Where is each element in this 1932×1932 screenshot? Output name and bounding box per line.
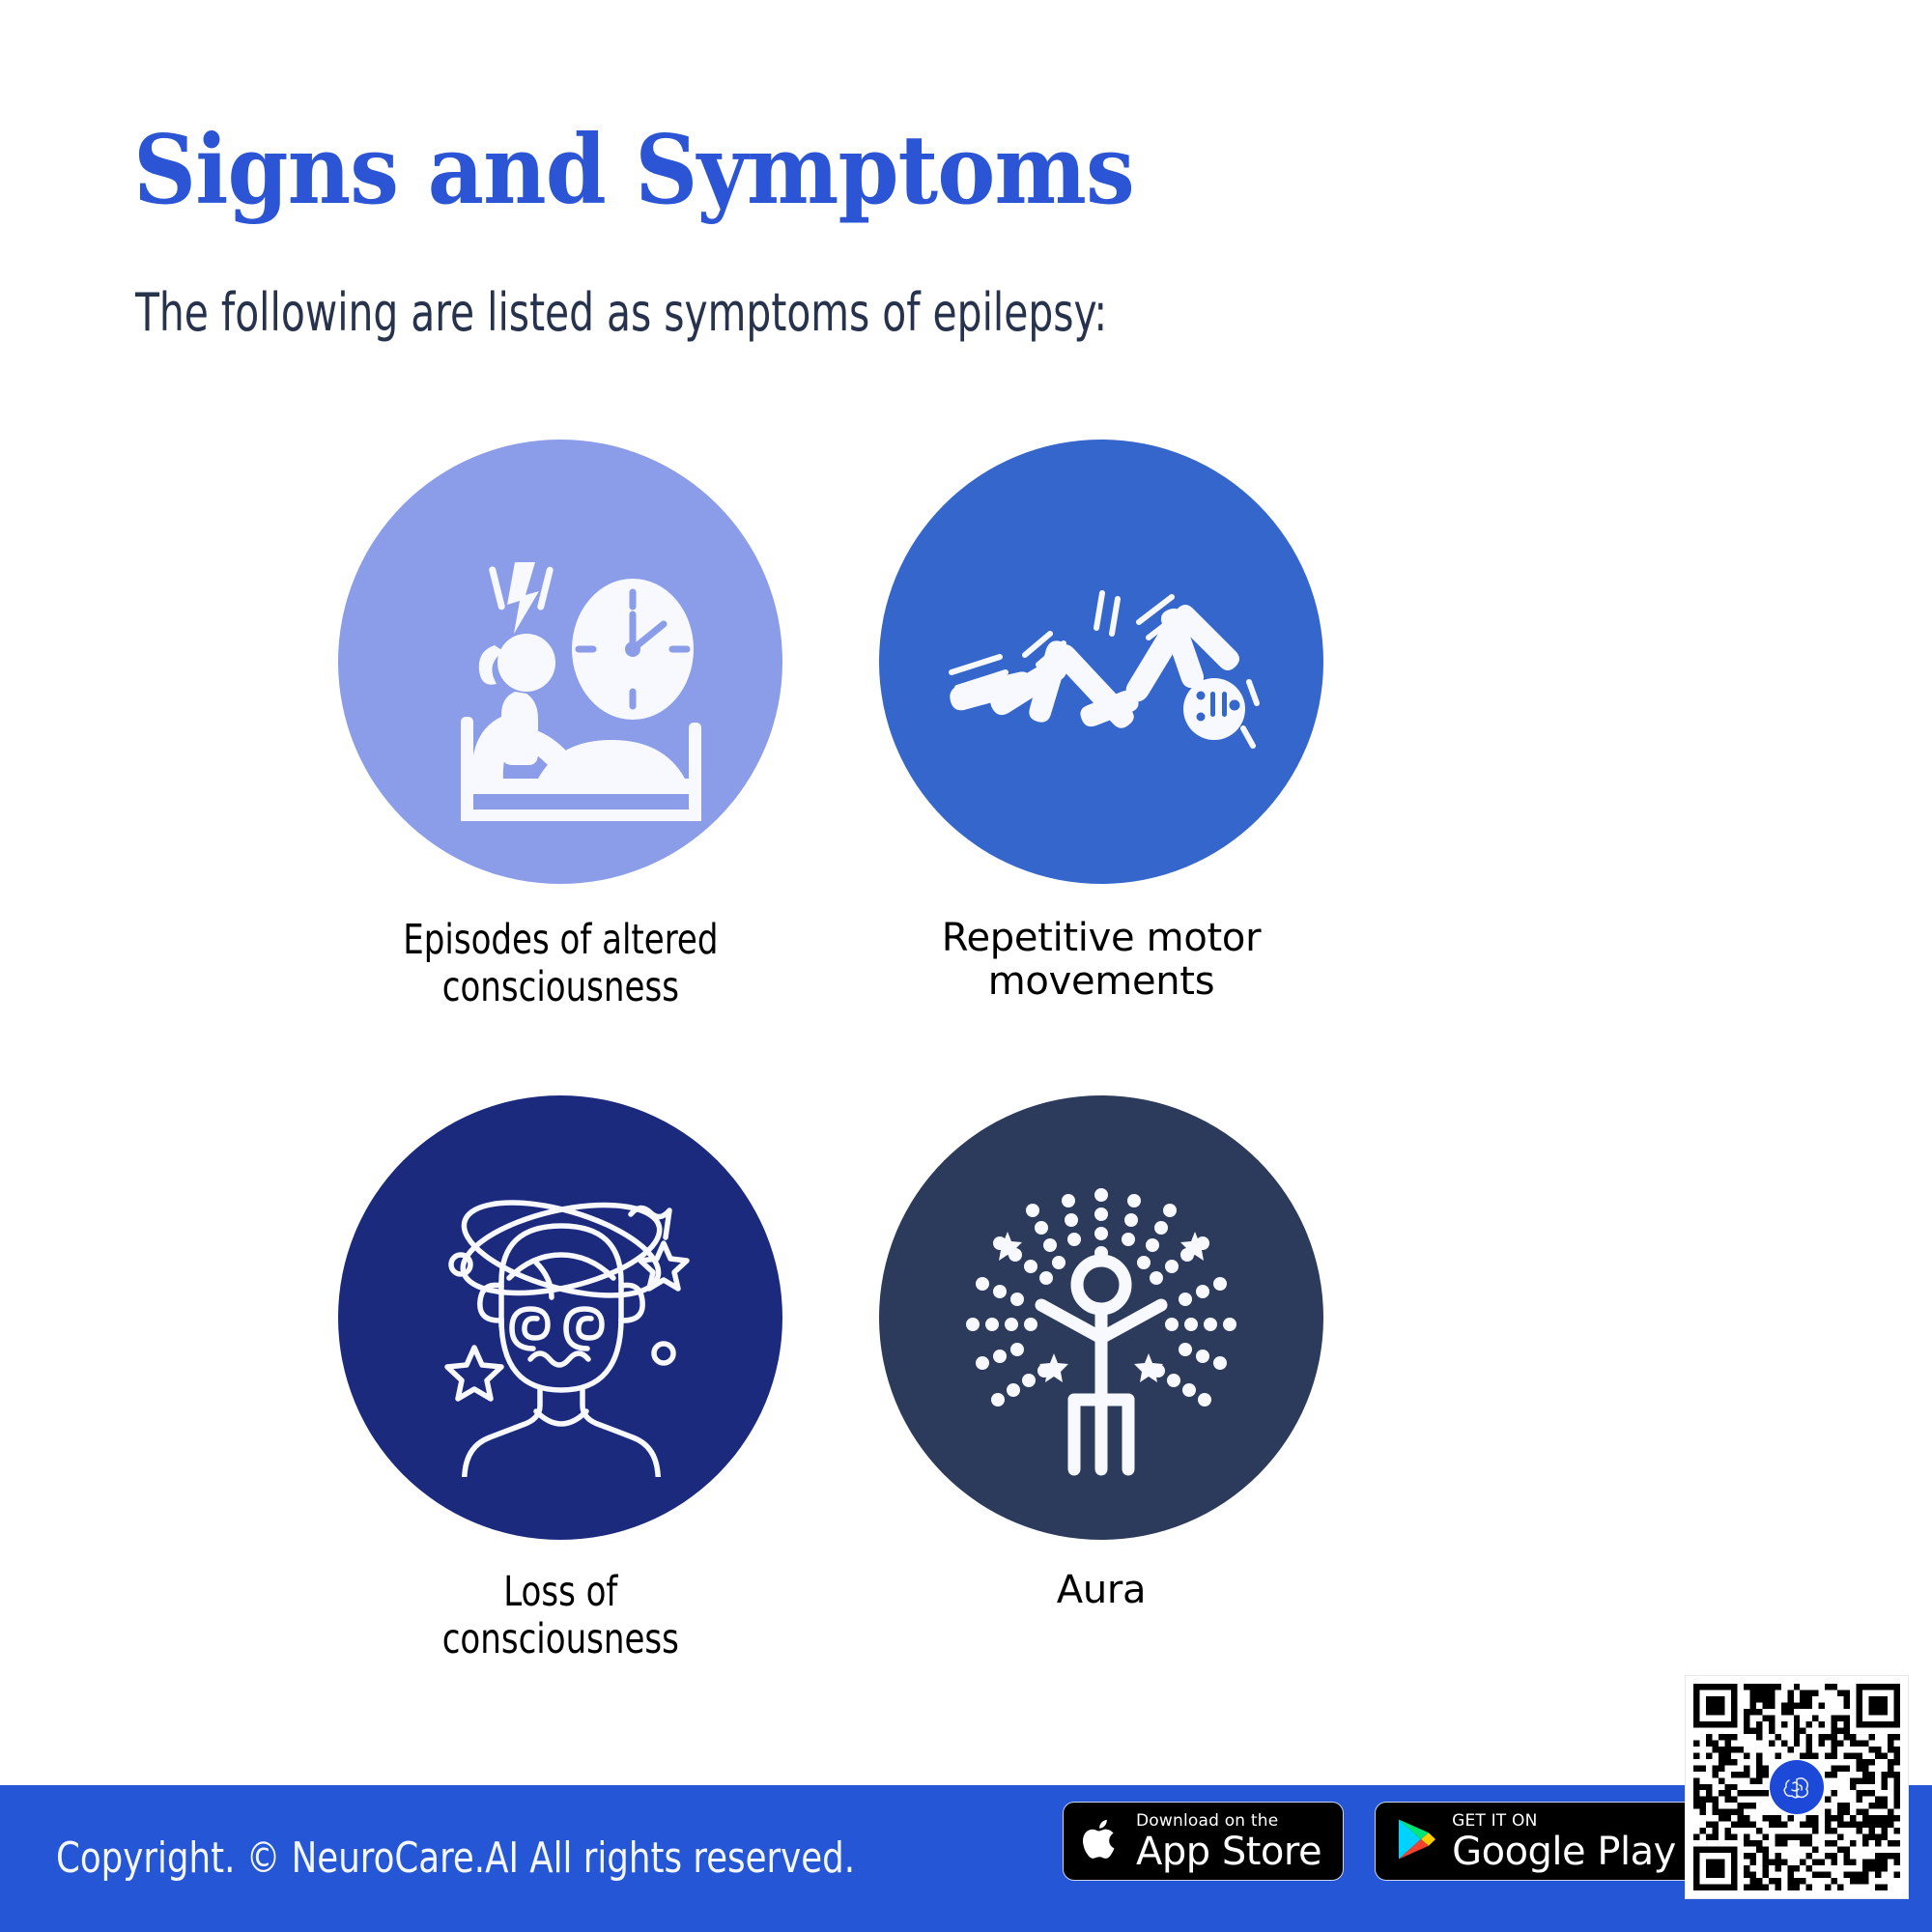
apple-logo-icon — [1083, 1816, 1122, 1866]
qr-code[interactable] — [1686, 1676, 1908, 1898]
app-store-small-label: Download on the — [1136, 1813, 1321, 1830]
copyright-text: Copyright. © NeuroCare.AI All rights res… — [56, 1833, 855, 1883]
symptom-label-2: Repetitive motor movements — [942, 917, 1261, 1004]
symptom-card-aura: Aura — [831, 1095, 1372, 1662]
person-with-radiating-aura-icon — [942, 1158, 1261, 1477]
app-store-badge[interactable]: Download on the App Store — [1063, 1802, 1344, 1881]
symptom-label-1: Episodes of altered consciousness — [403, 917, 718, 1010]
google-play-small-label: GET IT ON — [1452, 1813, 1676, 1830]
google-play-triangle-icon — [1395, 1816, 1437, 1866]
brain-logo-icon — [1770, 1760, 1824, 1814]
icon-circle-3 — [338, 1095, 782, 1540]
symptom-card-loss-of-consciousness: Loss of consciousness — [290, 1095, 831, 1662]
icon-circle-4 — [879, 1095, 1323, 1540]
app-store-big-label: App Store — [1136, 1833, 1321, 1870]
footer-bar: Copyright. © NeuroCare.AI All rights res… — [0, 1785, 1932, 1932]
symptoms-grid: Episodes of altered consciousness — [290, 440, 1372, 1662]
dizzy-face-spiral-eyes-icon — [401, 1158, 720, 1477]
symptom-label-4: Aura — [1057, 1569, 1146, 1612]
symptom-label-3: Loss of consciousness — [441, 1569, 678, 1662]
symptoms-row-2: Loss of consciousness — [290, 1095, 1372, 1662]
person-in-bed-awake-icon — [401, 502, 720, 821]
page-subtitle: The following are listed as symptoms of … — [135, 287, 1107, 339]
google-play-big-label: Google Play — [1452, 1833, 1676, 1870]
symptom-card-repetitive-motor: Repetitive motor movements — [831, 440, 1372, 1010]
icon-circle-1 — [338, 440, 782, 884]
google-play-badge[interactable]: GET IT ON Google Play — [1375, 1802, 1698, 1881]
app-store-badge-text: Download on the App Store — [1136, 1813, 1321, 1870]
infographic-page: Signs and Symptoms The following are lis… — [0, 0, 1932, 1932]
google-play-badge-text: GET IT ON Google Play — [1452, 1813, 1676, 1870]
page-title: Signs and Symptoms — [133, 124, 1134, 218]
icon-circle-2 — [879, 440, 1323, 884]
symptom-card-altered-consciousness: Episodes of altered consciousness — [290, 440, 831, 1010]
symptoms-row-1: Episodes of altered consciousness — [290, 440, 1372, 1010]
person-convulsing-on-ground-icon — [942, 502, 1261, 821]
store-badges: Download on the App Store GET IT ON Goog… — [1063, 1802, 1698, 1881]
qr-canvas — [1693, 1684, 1900, 1890]
